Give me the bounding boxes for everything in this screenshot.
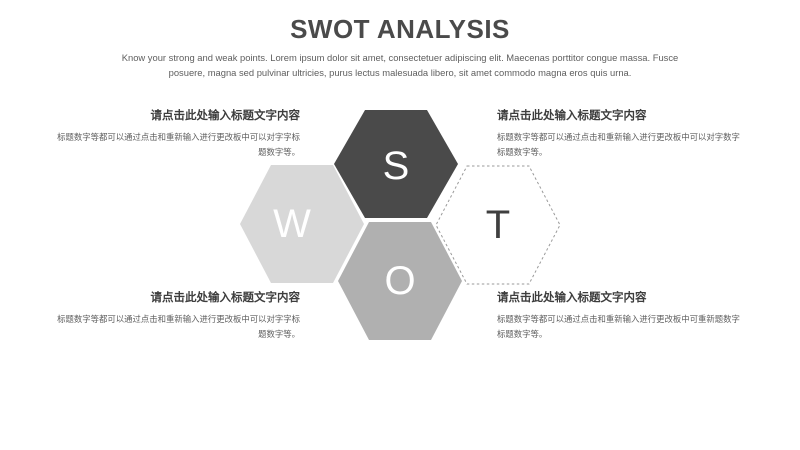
text-block-bottom-left[interactable]: 请点击此处输入标题文字内容 标题数字等都可以通过点击和重新输入进行更改板中可以对… bbox=[52, 290, 300, 341]
text-block-top-left-body: 标题数字等都可以通过点击和重新输入进行更改板中可以对字字标题数字等。 bbox=[52, 130, 300, 159]
text-block-top-right-heading: 请点击此处输入标题文字内容 bbox=[497, 108, 745, 125]
page-title: SWOT ANALYSIS bbox=[0, 14, 800, 45]
hexagon-letter-w: W bbox=[273, 202, 311, 246]
text-block-bottom-right-body: 标题数字等都可以通过点击和重新输入进行更改板中可重新题数字标题数字等。 bbox=[497, 312, 745, 341]
text-block-top-right-body: 标题数字等都可以通过点击和重新输入进行更改板中可以对字数字标题数字等。 bbox=[497, 130, 745, 159]
hexagon-threats[interactable]: T bbox=[436, 166, 560, 284]
hexagon-strengths[interactable]: S bbox=[334, 110, 458, 218]
text-block-top-left-heading: 请点击此处输入标题文字内容 bbox=[52, 108, 300, 125]
hexagon-opportunities[interactable]: O bbox=[338, 222, 462, 340]
text-block-bottom-right[interactable]: 请点击此处输入标题文字内容 标题数字等都可以通过点击和重新输入进行更改板中可重新… bbox=[497, 290, 745, 341]
hexagon-letter-o: O bbox=[384, 259, 415, 303]
text-block-top-right[interactable]: 请点击此处输入标题文字内容 标题数字等都可以通过点击和重新输入进行更改板中可以对… bbox=[497, 108, 745, 159]
text-block-top-left[interactable]: 请点击此处输入标题文字内容 标题数字等都可以通过点击和重新输入进行更改板中可以对… bbox=[52, 108, 300, 159]
slide-subtitle: Know your strong and weak points. Lorem … bbox=[118, 50, 682, 80]
text-block-bottom-left-heading: 请点击此处输入标题文字内容 bbox=[52, 290, 300, 307]
hexagon-letter-s: S bbox=[383, 144, 410, 188]
hexagon-weaknesses[interactable]: W bbox=[240, 165, 364, 283]
text-block-bottom-left-body: 标题数字等都可以通过点击和重新输入进行更改板中可以对字字标题数字等。 bbox=[52, 312, 300, 341]
text-block-bottom-right-heading: 请点击此处输入标题文字内容 bbox=[497, 290, 745, 307]
hexagon-letter-t: T bbox=[486, 203, 510, 247]
